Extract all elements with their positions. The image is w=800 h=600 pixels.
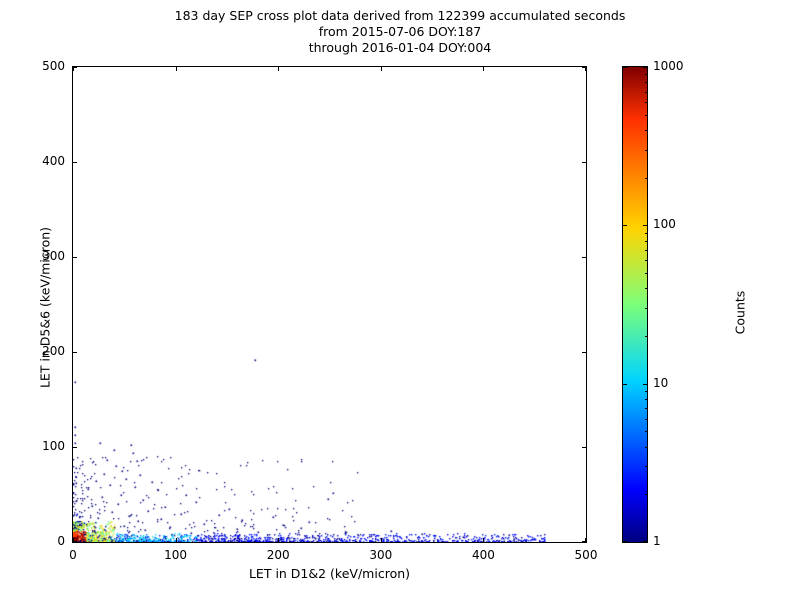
colorbar-minor-tick xyxy=(645,336,647,337)
x-tick-label: 200 xyxy=(248,548,308,562)
colorbar-minor-tick xyxy=(645,130,647,131)
y-tick-right xyxy=(582,162,586,163)
colorbar-minor-tick xyxy=(645,74,647,75)
y-tick-right xyxy=(582,352,586,353)
colorbar-minor-tick xyxy=(645,466,647,467)
colorbar-minor-tick xyxy=(645,260,647,261)
y-tick-label: 500 xyxy=(11,59,65,73)
title-line-2: from 2015-07-06 DOY:187 xyxy=(0,24,800,40)
colorbar-minor-tick xyxy=(645,241,647,242)
scatter-points-canvas xyxy=(73,67,586,542)
colorbar-minor-tick xyxy=(645,178,647,179)
colorbar-minor-tick xyxy=(645,82,647,83)
colorbar-tick-label: 100 xyxy=(653,217,676,231)
x-tick-label: 500 xyxy=(556,548,616,562)
y-tick xyxy=(73,352,77,353)
colorbar-tick-label: 1 xyxy=(653,534,661,548)
colorbar-minor-tick xyxy=(645,288,647,289)
y-tick-label: 100 xyxy=(11,439,65,453)
y-tick-right xyxy=(582,541,586,542)
chart-title: 183 day SEP cross plot data derived from… xyxy=(0,8,800,56)
colorbar-label: Counts xyxy=(733,213,748,413)
colorbar-gradient xyxy=(623,67,647,542)
x-tick-top xyxy=(483,67,484,71)
colorbar-tick-label: 1000 xyxy=(653,59,684,73)
x-tick xyxy=(176,538,177,542)
plot-area xyxy=(72,66,587,543)
colorbar-minor-tick xyxy=(645,399,647,400)
colorbar-minor-tick xyxy=(645,102,647,103)
colorbar-tick xyxy=(643,541,647,542)
y-tick-right xyxy=(582,67,586,68)
x-tick xyxy=(278,538,279,542)
y-tick-label: 300 xyxy=(11,249,65,263)
y-tick-right xyxy=(582,257,586,258)
colorbar-minor-tick xyxy=(645,250,647,251)
colorbar-tick-left xyxy=(623,384,627,385)
y-tick xyxy=(73,67,77,68)
colorbar-minor-tick xyxy=(645,233,647,234)
colorbar-minor-tick xyxy=(645,431,647,432)
figure: 183 day SEP cross plot data derived from… xyxy=(0,0,800,600)
y-tick-right xyxy=(582,447,586,448)
x-tick-top xyxy=(381,67,382,71)
colorbar-minor-tick xyxy=(645,308,647,309)
y-axis-label: LET in D5&6 (keV/micron) xyxy=(38,168,53,448)
x-tick-label: 0 xyxy=(43,548,103,562)
colorbar-minor-tick xyxy=(645,408,647,409)
colorbar-tick-left xyxy=(623,67,627,68)
x-axis-label: LET in D1&2 (keV/micron) xyxy=(72,566,587,581)
x-tick-top xyxy=(176,67,177,71)
title-line-3: through 2016-01-04 DOY:004 xyxy=(0,40,800,56)
colorbar xyxy=(622,66,648,543)
colorbar-minor-tick xyxy=(645,273,647,274)
colorbar-tick-left xyxy=(623,225,627,226)
x-tick-label: 300 xyxy=(351,548,411,562)
colorbar-minor-tick xyxy=(645,92,647,93)
x-tick xyxy=(483,538,484,542)
y-tick-label: 200 xyxy=(11,344,65,358)
y-tick xyxy=(73,447,77,448)
y-tick xyxy=(73,162,77,163)
colorbar-tick-label: 10 xyxy=(653,376,668,390)
x-tick-label: 100 xyxy=(146,548,206,562)
colorbar-minor-tick xyxy=(645,494,647,495)
y-tick-label: 0 xyxy=(11,534,65,548)
x-tick-label: 400 xyxy=(453,548,513,562)
colorbar-minor-tick xyxy=(645,115,647,116)
y-tick xyxy=(73,257,77,258)
colorbar-minor-tick xyxy=(645,391,647,392)
colorbar-tick xyxy=(643,384,647,385)
title-line-1: 183 day SEP cross plot data derived from… xyxy=(0,8,800,24)
x-tick-top xyxy=(278,67,279,71)
y-tick xyxy=(73,541,77,542)
colorbar-minor-tick xyxy=(645,419,647,420)
x-tick xyxy=(381,538,382,542)
colorbar-tick-left xyxy=(623,541,627,542)
colorbar-tick xyxy=(643,67,647,68)
colorbar-minor-tick xyxy=(645,150,647,151)
y-tick-label: 400 xyxy=(11,154,65,168)
colorbar-minor-tick xyxy=(645,447,647,448)
colorbar-tick xyxy=(643,225,647,226)
